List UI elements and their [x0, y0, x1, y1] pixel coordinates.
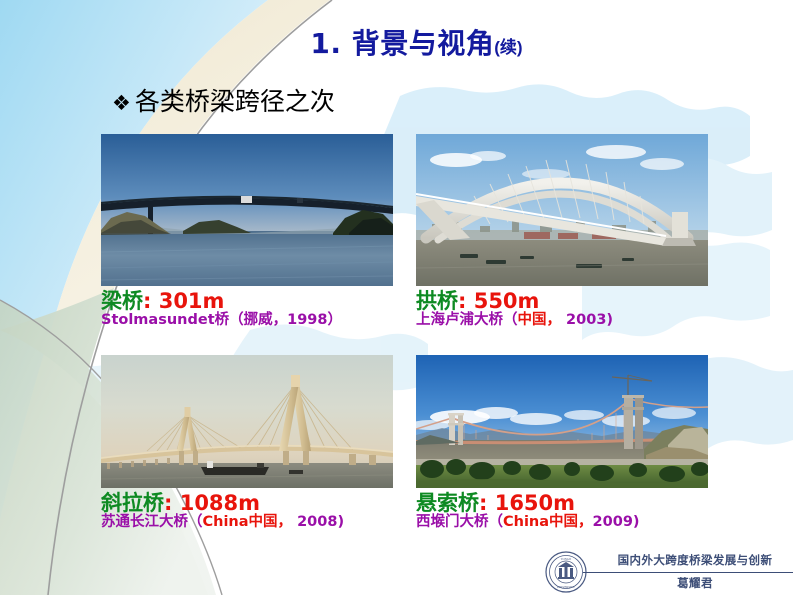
bridge-caption-sub: Stolmasundet桥（挪威，1998） [101, 313, 393, 328]
bridge-country-label: China中国， [203, 514, 293, 530]
bridge-card-grid: 梁桥: 301m Stolmasundet桥（挪威，1998） [0, 0, 793, 595]
footer-title: 国内外大跨度桥梁发展与创新 [597, 552, 793, 568]
bridge-year-label: 2008) [292, 514, 344, 530]
bridge-caption: 梁桥: 301m Stolmasundet桥（挪威，1998） [101, 290, 393, 328]
bridge-span-label: : 301m [143, 289, 224, 313]
bridge-type-label: 斜拉桥 [101, 491, 164, 515]
bridge-year-label: 2003) [561, 312, 613, 328]
bridge-caption-sub: 上海卢浦大桥（中国， 2003) [416, 313, 708, 328]
bridge-name-label: 西堠门大桥（ [416, 514, 503, 530]
bridge-name-label: 上海卢浦大桥（ [416, 312, 518, 328]
bridge-country-label: 挪威 [244, 312, 273, 328]
bridge-type-label: 悬索桥 [416, 491, 479, 515]
bridge-caption-sub: 西堠门大桥（China中国，2009) [416, 515, 708, 530]
bridge-span-label: : 1650m [479, 491, 575, 515]
bridge-card: 拱桥: 550m 上海卢浦大桥（中国， 2003) [416, 134, 708, 328]
stolmasundet-bridge-photo [101, 134, 393, 286]
bridge-type-label: 拱桥 [416, 289, 458, 313]
bridge-type-label: 梁桥 [101, 289, 143, 313]
bridge-card: 悬索桥: 1650m 西堠门大桥（China中国，2009) [416, 355, 708, 530]
bridge-span-label: : 550m [458, 289, 539, 313]
bridge-caption-sub: 苏通长江大桥（China中国， 2008) [101, 515, 393, 530]
svg-text:UNIVERSITY: UNIVERSITY [557, 585, 576, 589]
bridge-name-label: 苏通长江大桥（ [101, 514, 203, 530]
bridge-caption-main: 悬索桥: 1650m [416, 492, 708, 514]
svg-text:TONGJI: TONGJI [561, 557, 571, 561]
footer-divider [583, 572, 793, 573]
footer-author: 葛耀君 [597, 575, 793, 591]
bridge-caption: 悬索桥: 1650m 西堠门大桥（China中国，2009) [416, 492, 708, 530]
tongji-university-seal: TONGJI UNIVERSITY [545, 551, 587, 593]
bridge-country-label: China中国， [503, 514, 593, 530]
bridge-caption-main: 斜拉桥: 1088m [101, 492, 393, 514]
lupu-bridge-photo [416, 134, 708, 286]
sutong-bridge-photo [101, 355, 393, 488]
bridge-caption-main: 拱桥: 550m [416, 290, 708, 312]
bridge-country-label: 中国， [518, 312, 562, 328]
presentation-slide: 1. 背景与视角(续) ❖各类桥梁跨径之次 [0, 0, 793, 595]
bridge-caption: 拱桥: 550m 上海卢浦大桥（中国， 2003) [416, 290, 708, 328]
bridge-caption: 斜拉桥: 1088m 苏通长江大桥（China中国， 2008) [101, 492, 393, 530]
slide-footer: TONGJI UNIVERSITY 国内外大跨度桥梁发展与创新 葛耀君 [545, 549, 793, 595]
bridge-card: 斜拉桥: 1088m 苏通长江大桥（China中国， 2008) [101, 355, 393, 530]
bridge-span-label: : 1088m [164, 491, 260, 515]
xihoumen-bridge-photo [416, 355, 708, 488]
bridge-year-label: 2009) [593, 514, 640, 530]
bridge-year-label: ，1998） [273, 312, 342, 328]
bridge-card: 梁桥: 301m Stolmasundet桥（挪威，1998） [101, 134, 393, 328]
bridge-caption-main: 梁桥: 301m [101, 290, 393, 312]
bridge-name-label: Stolmasundet桥（ [101, 312, 244, 328]
